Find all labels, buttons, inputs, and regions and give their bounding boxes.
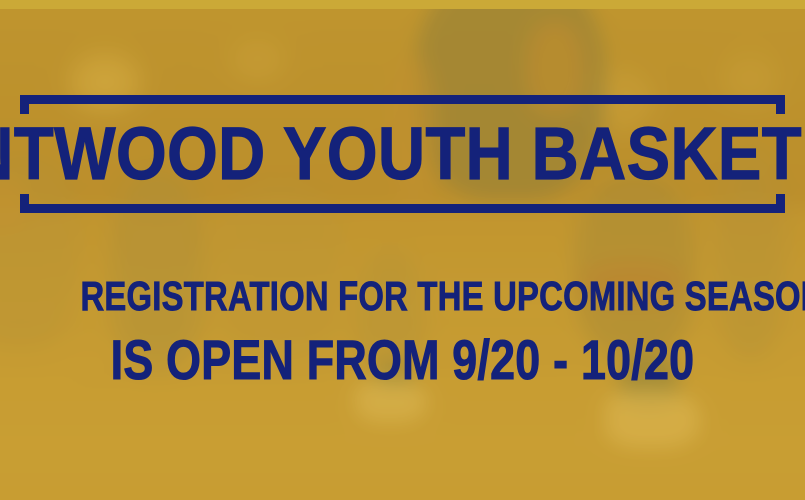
frame-corner-bottom-left: [20, 194, 29, 213]
headline-frame: BRENTWOOD YOUTH BASKETBALL: [20, 95, 785, 213]
frame-rule-bottom: [20, 204, 785, 213]
poster-subline-primary: REGISTRATION FOR THE UPCOMING SEASON: [81, 273, 725, 320]
poster-subline-dates: IS OPEN FROM 9/20 - 10/20: [81, 327, 725, 392]
poster-headline: BRENTWOOD YOUTH BASKETBALL: [66, 108, 739, 200]
promo-poster: BRENTWOOD YOUTH BASKETBALL REGISTRATION …: [0, 0, 805, 500]
frame-corner-bottom-right: [776, 194, 785, 213]
frame-rule-top: [20, 95, 785, 104]
poster-content: BRENTWOOD YOUTH BASKETBALL REGISTRATION …: [0, 0, 805, 500]
